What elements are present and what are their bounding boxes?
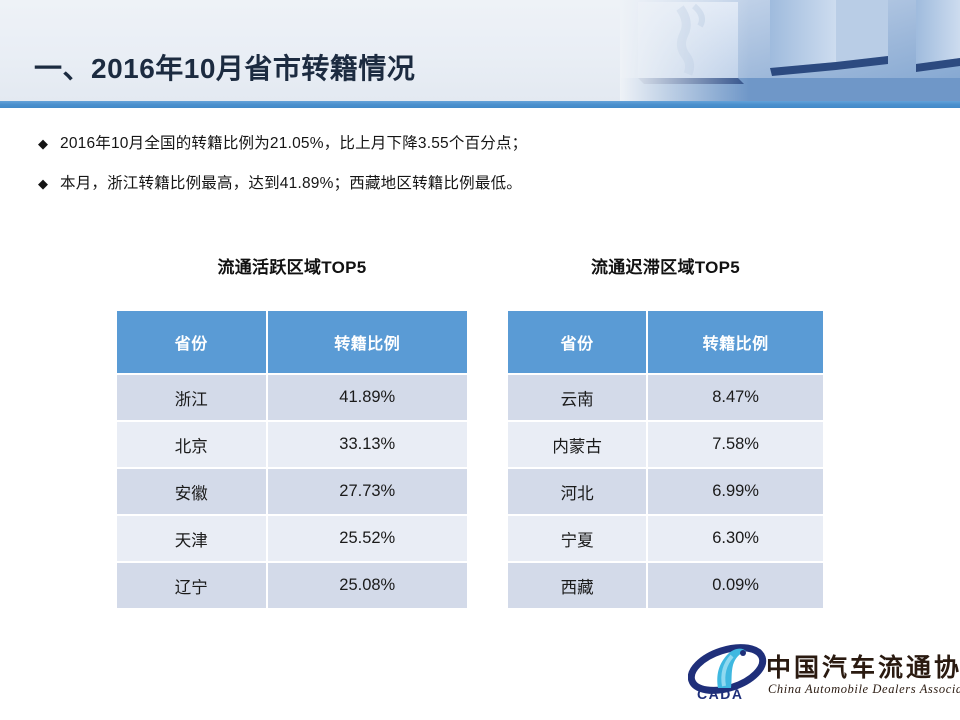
- lagging-regions-table: 省份 转籍比例 云南 8.47% 内蒙古 7.58% 河北 6.: [508, 311, 823, 608]
- cell-province: 浙江: [117, 375, 268, 422]
- cell-province: 辽宁: [117, 563, 268, 608]
- cell-province: 西藏: [508, 563, 648, 608]
- table-row: 北京 33.13%: [117, 422, 467, 469]
- table-row: 宁夏 6.30%: [508, 516, 823, 563]
- cell-province: 天津: [117, 516, 268, 563]
- table-row: 安徽 27.73%: [117, 469, 467, 516]
- cell-province: 云南: [508, 375, 648, 422]
- table-header-row: 省份 转籍比例: [117, 311, 467, 375]
- cell-ratio: 7.58%: [648, 422, 823, 469]
- table-row: 浙江 41.89%: [117, 375, 467, 422]
- cell-province: 北京: [117, 422, 268, 469]
- slide-header: 一、2016年10月省市转籍情况: [0, 0, 960, 101]
- table-row: 内蒙古 7.58%: [508, 422, 823, 469]
- cada-logo: CADA 中国汽车流通协会 China Automobile Dealers A…: [688, 642, 954, 712]
- cell-province: 河北: [508, 469, 648, 516]
- column-header-ratio: 转籍比例: [648, 311, 823, 375]
- table-caption-active: 流通活跃区域TOP5: [117, 255, 467, 285]
- column-header-province: 省份: [508, 311, 648, 375]
- header-decoration-cubes-icon: [620, 0, 960, 101]
- cell-province: 宁夏: [508, 516, 648, 563]
- diamond-bullet-icon: ◆: [38, 177, 60, 190]
- table-row: 天津 25.52%: [117, 516, 467, 563]
- cell-ratio: 0.09%: [648, 563, 823, 608]
- logo-abbreviation: CADA: [697, 686, 743, 702]
- header-accent-rule: [0, 101, 960, 108]
- table-row: 西藏 0.09%: [508, 563, 823, 608]
- cell-ratio: 6.30%: [648, 516, 823, 563]
- active-regions-table-block: 流通活跃区域TOP5 省份 转籍比例 浙江 41.89% 北京: [117, 255, 467, 608]
- diamond-bullet-icon: ◆: [38, 137, 60, 150]
- logo-name-en: China Automobile Dealers Association: [768, 682, 960, 697]
- cell-ratio: 6.99%: [648, 469, 823, 516]
- page-title: 一、2016年10月省市转籍情况: [34, 47, 415, 87]
- table-header-row: 省份 转籍比例: [508, 311, 823, 375]
- bullet-text: 2016年10月全国的转籍比例为21.05%，比上月下降3.55个百分点；: [60, 131, 527, 153]
- active-regions-table: 省份 转籍比例 浙江 41.89% 北京 33.13% 安徽 2: [117, 311, 467, 608]
- table-row: 河北 6.99%: [508, 469, 823, 516]
- cell-ratio: 41.89%: [268, 375, 468, 422]
- cell-ratio: 25.52%: [268, 516, 468, 563]
- cell-ratio: 8.47%: [648, 375, 823, 422]
- logo-name-cn: 中国汽车流通协会: [766, 648, 960, 684]
- list-item: ◆ 2016年10月全国的转籍比例为21.05%，比上月下降3.55个百分点；: [38, 131, 918, 163]
- column-header-ratio: 转籍比例: [268, 311, 468, 375]
- summary-bullet-list: ◆ 2016年10月全国的转籍比例为21.05%，比上月下降3.55个百分点； …: [38, 131, 918, 211]
- lagging-regions-table-block: 流通迟滞区域TOP5 省份 转籍比例 云南 8.47% 内蒙古: [508, 255, 823, 608]
- slide: 一、2016年10月省市转籍情况 ◆ 2016年10月全国的转籍比例为21.05…: [0, 0, 960, 720]
- column-header-province: 省份: [117, 311, 268, 375]
- table-caption-lagging: 流通迟滞区域TOP5: [508, 255, 823, 285]
- table-row: 辽宁 25.08%: [117, 563, 467, 608]
- table-row: 云南 8.47%: [508, 375, 823, 422]
- bullet-text: 本月，浙江转籍比例最高，达到41.89%；西藏地区转籍比例最低。: [60, 171, 522, 193]
- cell-ratio: 33.13%: [268, 422, 468, 469]
- cell-province: 安徽: [117, 469, 268, 516]
- cell-ratio: 25.08%: [268, 563, 468, 608]
- cell-province: 内蒙古: [508, 422, 648, 469]
- cell-ratio: 27.73%: [268, 469, 468, 516]
- list-item: ◆ 本月，浙江转籍比例最高，达到41.89%；西藏地区转籍比例最低。: [38, 171, 918, 203]
